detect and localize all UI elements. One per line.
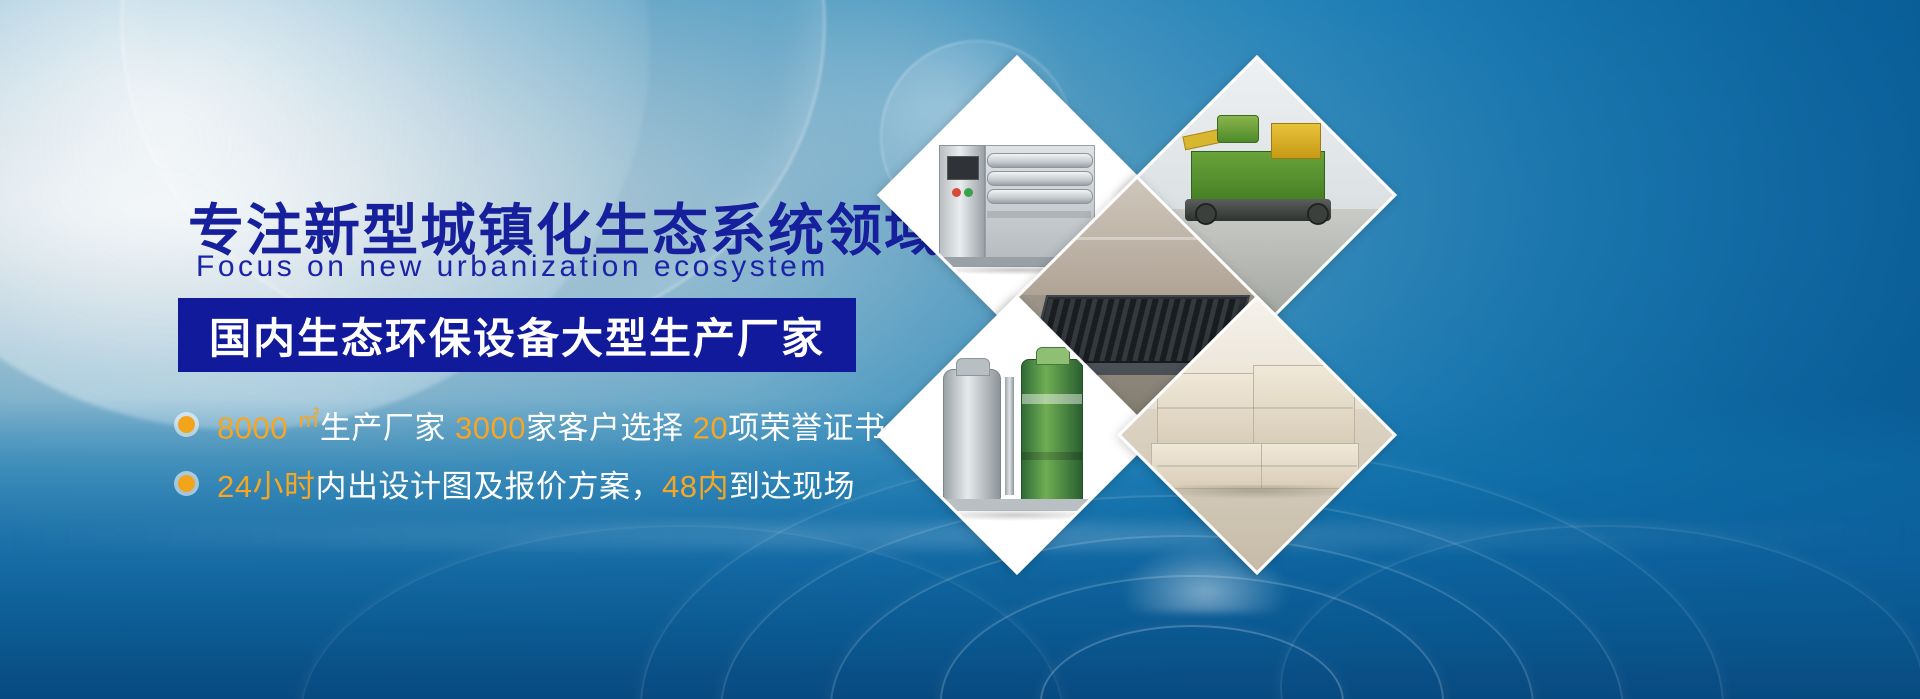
bullet-accent: 3000 (455, 410, 526, 445)
bullet-accent: 24小时 (217, 469, 315, 504)
bullet-plain: 项荣誉证书 (728, 410, 886, 445)
bullet-accent: 8000 (217, 410, 297, 445)
bullet-plain: 家客户选择 (526, 410, 693, 445)
bullet-item: 24小时内出设计图及报价方案，48内到达现场 (178, 461, 886, 506)
banner-text-block: 专注新型城镇化生态系统领域 Focus on new urbanization … (0, 0, 980, 699)
bullet-plain: 内出设计图及报价方案， (315, 469, 662, 504)
bullet-text-1: 8000 ㎡生产厂家 3000家客户选择 20项荣誉证书 (217, 402, 886, 447)
bullet-accent: 20 (693, 410, 728, 445)
bullet-dot-icon (178, 416, 195, 433)
bullet-item: 8000 ㎡生产厂家 3000家客户选择 20项荣誉证书 (178, 402, 886, 447)
banner-highlight-box: 国内生态环保设备大型生产厂家 (178, 298, 856, 372)
bullet-plain: 到达现场 (729, 469, 855, 504)
banner-bullet-list: 8000 ㎡生产厂家 3000家客户选择 20项荣誉证书 24小时内出设计图及报… (178, 402, 886, 520)
bullet-accent-unit: ㎡ (297, 407, 320, 432)
bullet-accent: 48内 (662, 469, 729, 504)
product-photo-collage (900, 58, 1340, 498)
bullet-plain: 生产厂家 (320, 410, 455, 445)
hero-banner: 专注新型城镇化生态系统领域 Focus on new urbanization … (0, 0, 1920, 699)
banner-subtitle: Focus on new urbanization ecosystem (196, 250, 829, 284)
bullet-dot-icon (178, 475, 195, 492)
banner-highlight-box-text: 国内生态环保设备大型生产厂家 (209, 305, 825, 366)
bullet-text-2: 24小时内出设计图及报价方案，48内到达现场 (217, 461, 855, 506)
